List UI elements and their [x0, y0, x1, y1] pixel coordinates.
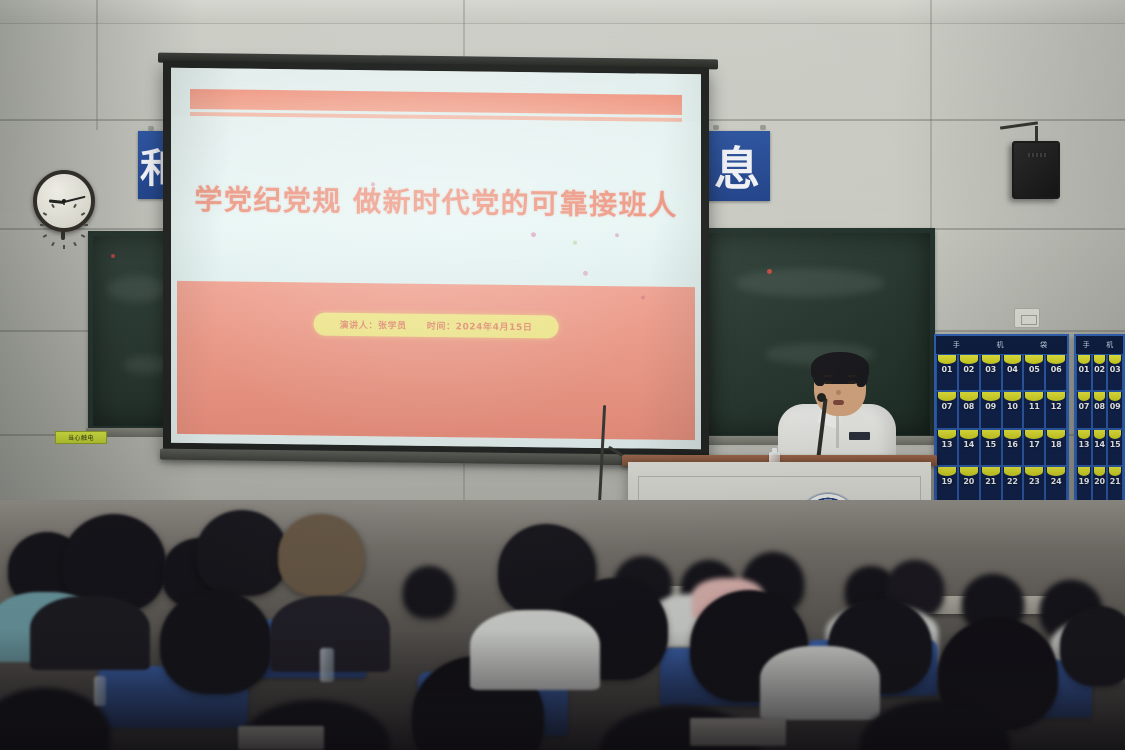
hazard-label-text: 当心触电 [68, 433, 94, 442]
presenter-eye [848, 381, 856, 384]
presenter-eyebrow [823, 375, 833, 377]
rack-cell[interactable]: 03 [980, 354, 1002, 391]
rack-header-char: 袋 [1040, 340, 1050, 350]
slide-title: 学党纪党规 做新时代党的可靠接班人 [194, 178, 677, 224]
screen-speck [615, 233, 619, 237]
rack-cell[interactable]: 14 [1092, 429, 1108, 466]
rack-cell[interactable]: 22 [1002, 466, 1024, 503]
clock-center-pin [62, 199, 66, 203]
rack-cell[interactable]: 13 [1076, 429, 1092, 466]
rack-cell[interactable]: 19 [1076, 466, 1092, 503]
rack-cell[interactable]: 02 [958, 354, 980, 391]
rack-cell[interactable]: 21 [1107, 466, 1123, 503]
rack-cell[interactable]: 15 [1107, 429, 1123, 466]
rack-cell[interactable]: 08 [1092, 391, 1108, 428]
screen-speck [641, 296, 645, 300]
presentation-slide: 学党纪党规 做新时代党的可靠接班人 演讲人：张学员 时间：2024年4月15日 [171, 68, 701, 449]
presenter-mouth [833, 400, 844, 405]
rack-cell[interactable]: 19 [936, 466, 958, 503]
rack-cell[interactable]: 18 [1045, 429, 1067, 466]
rack-header: 手 机 [1076, 336, 1123, 354]
water-bottle [320, 648, 334, 682]
screen-speck [531, 232, 536, 237]
audience-head [403, 566, 455, 618]
slide-meta-pill: 演讲人：张学员 时间：2024年4月15日 [314, 313, 559, 339]
screen-speck [583, 271, 588, 276]
rack-cell[interactable]: 02 [1092, 354, 1108, 391]
wall-clock [33, 170, 95, 232]
rack-cell[interactable]: 06 [1045, 354, 1067, 391]
rack-cell[interactable]: 16 [1002, 429, 1024, 466]
rack-header-char: 机 [1106, 340, 1116, 350]
slide-top-band [190, 89, 683, 116]
rack-cell[interactable]: 07 [936, 391, 958, 428]
rack-cell[interactable]: 10 [1002, 391, 1024, 428]
presenter-shirt-placket [836, 414, 839, 448]
slide-body: 学党纪党规 做新时代党的可靠接班人 [171, 115, 701, 286]
rack-cell[interactable]: 07 [1076, 391, 1092, 428]
rack-cell[interactable]: 17 [1023, 429, 1045, 466]
slide-lower-band: 演讲人：张学员 时间：2024年4月15日 [177, 280, 694, 439]
rack-cell[interactable]: 09 [980, 391, 1002, 428]
presenter-hair [811, 352, 869, 384]
rack-cell[interactable]: 21 [980, 466, 1002, 503]
notebook [238, 726, 324, 750]
rack-header-char: 手 [953, 340, 963, 350]
board-marker-dot [767, 269, 772, 274]
slide-presenter: 演讲人：张学员 [340, 318, 407, 332]
rack-cell[interactable]: 05 [1023, 354, 1045, 391]
rack-cell[interactable]: 23 [1023, 466, 1045, 503]
rack-cell[interactable]: 03 [1107, 354, 1123, 391]
slide-date: 时间：2024年4月15日 [427, 319, 533, 333]
rack-cell[interactable]: 01 [1076, 354, 1092, 391]
screen-surface: 学党纪党规 做新时代党的可靠接班人 演讲人：张学员 时间：2024年4月15日 [171, 68, 701, 449]
clock-minute-hand [64, 196, 86, 203]
rack-cell[interactable]: 01 [936, 354, 958, 391]
rack-cell[interactable]: 15 [980, 429, 1002, 466]
clock-face [33, 170, 95, 232]
wall-sign-right-char: 息 [714, 133, 760, 199]
presenter-eye [824, 381, 832, 384]
rack-header-char: 手 [1083, 340, 1093, 350]
hazard-warning-label: 当心触电 [55, 431, 107, 444]
audience-shoulders [470, 610, 600, 690]
power-outlet[interactable] [1014, 308, 1040, 328]
microphone-icon [817, 393, 826, 402]
clock-stem [61, 230, 65, 240]
audience-head-blonde [278, 514, 364, 596]
wall-speaker-icon [1012, 141, 1060, 199]
rack-cell[interactable]: 12 [1045, 391, 1067, 428]
rack-cell[interactable]: 24 [1045, 466, 1067, 503]
rack-cell[interactable]: 20 [958, 466, 980, 503]
audience-head [196, 510, 288, 596]
rack-cell[interactable]: 11 [1023, 391, 1045, 428]
rack-cell[interactable]: 20 [1092, 466, 1108, 503]
screen-speck [573, 241, 577, 245]
rack-header-char: 机 [996, 340, 1006, 350]
presenter-nose [836, 390, 841, 395]
rack-cell[interactable]: 09 [1107, 391, 1123, 428]
screen-speck [371, 182, 375, 186]
rack-cell[interactable]: 14 [958, 429, 980, 466]
audience-shoulders [30, 596, 150, 670]
notebook [690, 718, 786, 746]
rack-header: 手 机 袋 [936, 336, 1067, 354]
rack-cell[interactable]: 13 [936, 429, 958, 466]
rack-cell[interactable]: 08 [958, 391, 980, 428]
water-bottle [94, 676, 106, 706]
presenter-pocket-logo [849, 432, 870, 440]
lecture-hall-photo: 和 息 当心触电 手 机 袋 01 02 03 04 05 06 07 08 0… [0, 0, 1125, 750]
audience-head [160, 590, 272, 694]
wall-sign-right: 息 [704, 131, 770, 201]
rack-cell[interactable]: 04 [1002, 354, 1024, 391]
audience-shoulders [760, 646, 880, 720]
projection-screen: 学党纪党规 做新时代党的可靠接班人 演讲人：张学员 时间：2024年4月15日 [163, 61, 709, 460]
audience-head [1060, 606, 1125, 686]
presenter-eyebrow [847, 375, 857, 377]
